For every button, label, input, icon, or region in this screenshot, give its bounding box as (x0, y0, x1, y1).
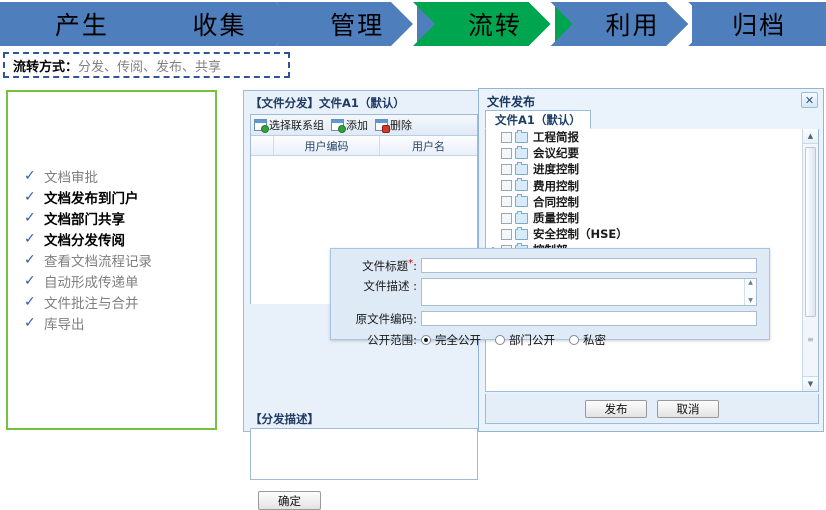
check-icon: ✓ (24, 253, 44, 267)
process-step-label: 产生 (51, 6, 109, 42)
field-row-description: 文件描述 : ▲ ▼ (331, 278, 769, 306)
publish-form-dialog: 文件标题*: 文件描述 : ▲ ▼ 原文件编码: 公开范围: (330, 248, 770, 340)
tab-file-a1[interactable]: 文件A1（默认） (485, 110, 591, 129)
label-publish-scope: 公开范围: (331, 332, 421, 348)
toolbar-button-label: 选择联系组 (269, 117, 324, 133)
check-icon: ✓ (24, 295, 44, 309)
folder-icon (515, 132, 528, 143)
tree-node-label: 质量控制 (533, 210, 579, 226)
description-scrollbar[interactable]: ▲ ▼ (744, 279, 756, 305)
window-add-icon (254, 119, 267, 131)
feature-item: ✓文档部门共享 (24, 207, 214, 228)
folder-icon (515, 213, 528, 224)
check-icon: ✓ (24, 316, 44, 330)
process-step-label: 流转 (464, 6, 522, 42)
confirm-button[interactable]: 确定 (258, 491, 321, 510)
field-row-original-code: 原文件编码: (331, 311, 769, 327)
tree-node-checkbox[interactable] (501, 180, 512, 191)
feature-item: ✓文件批注与合并 (24, 291, 214, 312)
feature-item: ✓库导出 (24, 312, 214, 333)
transfer-method-note: 流转方式： 分发、传阅、发布、共享 (3, 52, 290, 78)
tree-node[interactable]: 工程简报 (486, 129, 803, 145)
publish-window-footer: 发布 取消 (485, 394, 819, 424)
radio-button-icon[interactable] (569, 335, 579, 345)
scope-radio-label: 完全公开 (435, 332, 481, 348)
publish-scope-radio-group: 完全公开部门公开私密 (421, 332, 606, 348)
publish-tabstrip: 文件A1（默认） (485, 110, 819, 130)
tree-node-checkbox[interactable] (501, 132, 512, 143)
add-badge-icon (261, 125, 269, 133)
tree-node[interactable]: 质量控制 (486, 210, 803, 226)
toolbar-button-select-group[interactable]: 选择联系组 (254, 117, 324, 133)
scope-radio-2[interactable]: 私密 (569, 332, 606, 348)
tree-node-checkbox[interactable] (501, 148, 512, 159)
process-step-label: 收集 (188, 6, 246, 42)
required-marker-icon: * (408, 258, 413, 269)
check-icon: ✓ (24, 211, 44, 225)
field-row-title: 文件标题*: (331, 258, 769, 274)
feature-item-label: 文件批注与合并 (44, 292, 139, 312)
tree-node-label: 安全控制（HSE） (533, 226, 628, 242)
scope-radio-1[interactable]: 部门公开 (495, 332, 555, 348)
check-icon: ✓ (24, 232, 44, 246)
radio-button-icon[interactable] (495, 335, 505, 345)
publish-button[interactable]: 发布 (585, 400, 647, 418)
label-file-title: 文件标题*: (331, 258, 421, 274)
feature-list-panel: ✓文档审批✓文档发布到门户✓文档部门共享✓文档分发传阅✓查看文档流程记录✓自动形… (6, 90, 217, 430)
folder-icon (515, 196, 528, 207)
column-header-user-code[interactable]: 用户编码 (274, 136, 380, 155)
tree-node-checkbox[interactable] (501, 196, 512, 207)
feature-item-label: 文档分发传阅 (44, 229, 125, 249)
folder-icon (515, 148, 528, 159)
scrollbar-thumb[interactable] (805, 147, 816, 317)
scope-radio-label: 私密 (583, 332, 606, 348)
tree-node-label: 会议纪要 (533, 145, 579, 161)
distribution-grid-header: 用户编码 用户名 (251, 136, 477, 156)
feature-item: ✓自动形成传递单 (24, 270, 214, 291)
grid-row-selector-column (251, 136, 274, 155)
file-publish-title: 文件发布 (487, 93, 535, 110)
feature-item-label: 文档发布到门户 (44, 187, 139, 207)
scroll-up-icon[interactable]: ▲ (748, 279, 753, 287)
tree-node[interactable]: 费用控制 (486, 178, 803, 194)
window-delete-icon (375, 119, 388, 131)
feature-item: ✓文档发布到门户 (24, 186, 214, 207)
check-icon: ✓ (24, 169, 44, 183)
distribution-toolbar: 选择联系组添加删除 (251, 115, 477, 136)
file-description-input[interactable]: ▲ ▼ (421, 278, 757, 306)
file-distribution-title: 【文件分发】文件A1（默认） (250, 95, 478, 112)
scrollbar-grip-icon: ≡ (805, 334, 816, 344)
close-icon[interactable]: ✕ (801, 92, 818, 108)
label-original-file-code: 原文件编码: (331, 311, 421, 327)
window-add-icon (331, 119, 344, 131)
tree-node-checkbox[interactable] (501, 213, 512, 224)
tree-node[interactable]: 进度控制 (486, 161, 803, 177)
folder-icon (515, 180, 528, 191)
feature-item-label: 库导出 (44, 313, 85, 333)
check-icon: ✓ (24, 274, 44, 288)
scope-radio-0[interactable]: 完全公开 (421, 332, 481, 348)
toolbar-button-label: 删除 (390, 117, 412, 133)
process-chevron-band: 产生 收集 管理 流转 利用 归档 (0, 2, 826, 46)
feature-item: ✓查看文档流程记录 (24, 249, 214, 270)
scroll-down-icon[interactable]: ▼ (803, 376, 818, 391)
feature-item-label: 自动形成传递单 (44, 271, 139, 291)
publish-tree-scrollbar[interactable]: ▲ ≡ ▼ (802, 129, 818, 391)
process-step-label: 归档 (728, 6, 786, 42)
distribution-description-title: 【分发描述】 (250, 411, 319, 427)
feature-item-label: 文档部门共享 (44, 208, 125, 228)
add-badge-icon (338, 125, 346, 133)
tree-node-label: 进度控制 (533, 161, 579, 177)
process-step-produce[interactable]: 产生 (0, 2, 160, 46)
original-file-code-input[interactable] (421, 311, 757, 326)
folder-icon (515, 164, 528, 175)
label-file-description: 文件描述 : (331, 278, 421, 294)
scroll-down-icon[interactable]: ▼ (748, 297, 753, 305)
tree-node-checkbox[interactable] (501, 229, 512, 240)
process-step-collect[interactable]: 收集 (138, 2, 298, 46)
feature-list: ✓文档审批✓文档发布到门户✓文档部门共享✓文档分发传阅✓查看文档流程记录✓自动形… (24, 165, 214, 333)
transfer-method-value: 分发、传阅、发布、共享 (78, 56, 221, 75)
tree-node[interactable]: 会议纪要 (486, 145, 803, 161)
file-title-input[interactable] (421, 258, 757, 273)
delete-badge-icon (382, 125, 390, 133)
feature-item: ✓文档审批 (24, 165, 214, 186)
toolbar-button-add[interactable]: 添加 (331, 117, 368, 133)
radio-button-icon[interactable] (421, 335, 431, 345)
cancel-button[interactable]: 取消 (657, 400, 719, 418)
scroll-up-icon[interactable]: ▲ (803, 129, 818, 144)
tree-node[interactable]: 安全控制（HSE） (486, 226, 803, 242)
process-step-label: 管理 (326, 6, 384, 42)
column-header-user-name[interactable]: 用户名 (380, 136, 477, 155)
tree-node-label: 合同控制 (533, 194, 579, 210)
screenshot-root: 产生 收集 管理 流转 利用 归档 流转方式： 分发、传阅、发布、共享 ✓文档审… (0, 0, 826, 436)
process-step-label: 利用 (601, 6, 659, 42)
feature-item: ✓文档分发传阅 (24, 228, 214, 249)
toolbar-button-delete[interactable]: 删除 (375, 117, 412, 133)
field-row-scope: 公开范围: 完全公开部门公开私密 (331, 332, 769, 348)
tree-node-label: 工程简报 (533, 129, 579, 145)
check-icon: ✓ (24, 190, 44, 204)
toolbar-button-label: 添加 (346, 117, 368, 133)
tree-node-checkbox[interactable] (501, 164, 512, 175)
scope-radio-label: 部门公开 (509, 332, 555, 348)
feature-item-label: 文档审批 (44, 166, 98, 186)
folder-icon (515, 229, 528, 240)
transfer-method-label: 流转方式： (13, 56, 78, 75)
tree-node[interactable]: 合同控制 (486, 194, 803, 210)
feature-item-label: 查看文档流程记录 (44, 250, 152, 270)
tree-node-label: 费用控制 (533, 178, 579, 194)
